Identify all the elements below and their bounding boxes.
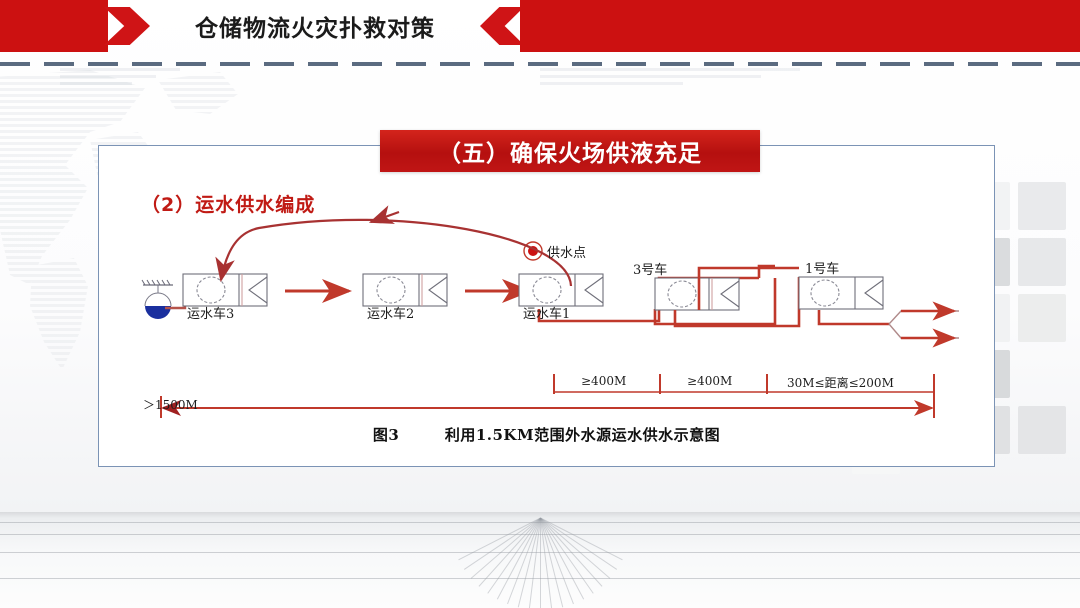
vehicle-3-icon bbox=[655, 278, 739, 310]
header-left-block bbox=[0, 0, 108, 52]
slide-root: 仓储物流火灾扑救对策 （五）确保火场供液充足 （2）运水供水编成 bbox=[0, 0, 1080, 608]
total-distance-arrow bbox=[161, 394, 934, 418]
figure-caption: 图3 利用1.5KM范围外水源运水供水示意图 bbox=[99, 424, 994, 445]
chevron-left-icon bbox=[480, 7, 524, 45]
vehicle-1-icon bbox=[799, 277, 883, 309]
nozzle-split-lines bbox=[819, 310, 959, 338]
water-supply-diagram: 运水车3 运水车2 运水车1 供水点 3号车 1号车 ≥400M ≥400M 3… bbox=[99, 146, 994, 466]
truck-3-icon bbox=[183, 274, 267, 306]
water-source-icon bbox=[142, 280, 185, 319]
truck-1-icon bbox=[519, 274, 603, 306]
header-ghost-lines-right bbox=[540, 68, 800, 104]
floor-grid bbox=[0, 512, 1080, 608]
figure-number: 图3 bbox=[373, 426, 399, 444]
chevron-right-icon bbox=[104, 7, 150, 45]
total-distance-label: ＞1500M bbox=[143, 396, 198, 413]
distance-label-1: ≥400M bbox=[581, 374, 626, 388]
vehicle-3-label: 3号车 bbox=[633, 259, 667, 278]
header-right-block bbox=[520, 0, 1080, 52]
header-bar: 仓储物流火灾扑救对策 bbox=[0, 0, 1080, 52]
vehicle-1-label: 1号车 bbox=[805, 258, 839, 277]
figure-caption-text: 利用1.5KM范围外水源运水供水示意图 bbox=[445, 426, 720, 444]
header-ghost-lines-left bbox=[60, 68, 180, 104]
truck-2-icon bbox=[363, 274, 447, 306]
truck-3-label: 运水车3 bbox=[187, 303, 234, 322]
content-panel: （五）确保火场供液充足 （2）运水供水编成 bbox=[98, 145, 995, 467]
supply-point-label: 供水点 bbox=[547, 242, 586, 261]
truck-1-label: 运水车1 bbox=[523, 303, 570, 322]
header-divider bbox=[0, 62, 1080, 66]
distance-label-3: 30M≤距离≤200M bbox=[787, 374, 894, 391]
distance-label-2: ≥400M bbox=[687, 374, 732, 388]
truck-2-label: 运水车2 bbox=[367, 303, 414, 322]
page-title: 仓储物流火灾扑救对策 bbox=[150, 0, 480, 52]
